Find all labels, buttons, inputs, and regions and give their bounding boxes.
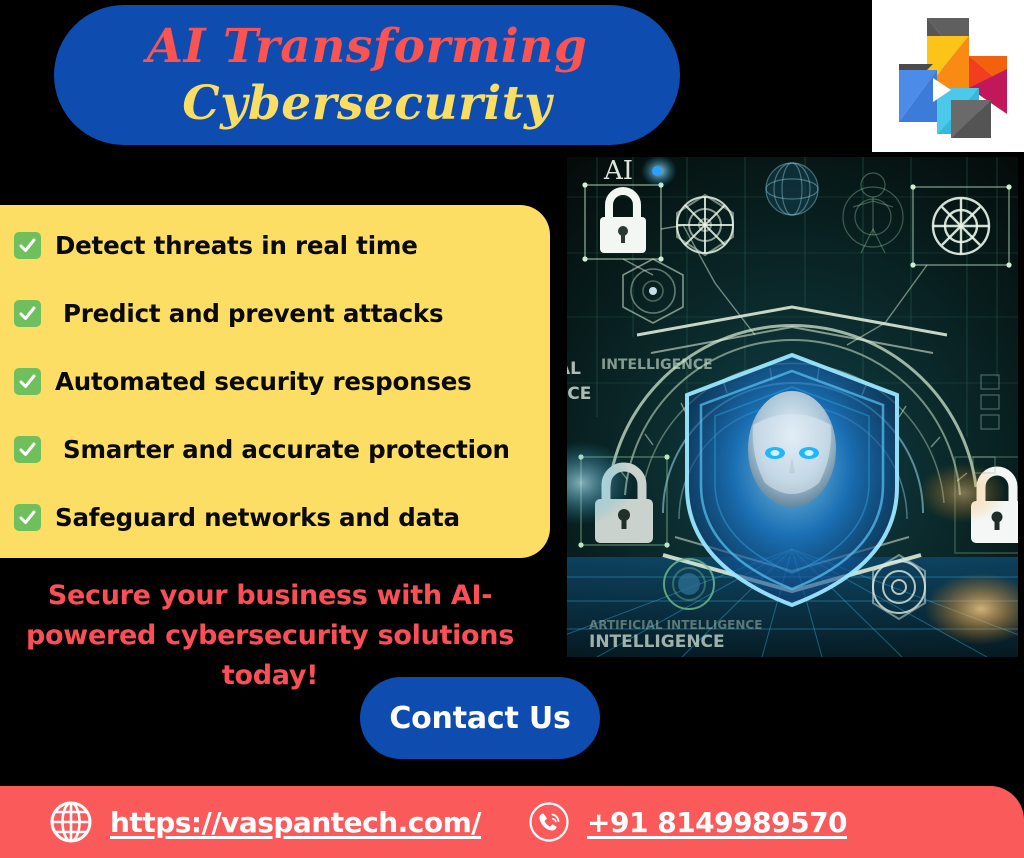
feature-item-0: Detect threats in real time xyxy=(14,231,550,260)
page-title-line-1: AI Transforming xyxy=(147,18,588,75)
check-icon xyxy=(14,436,41,463)
hero-label-ai: AI xyxy=(603,157,633,186)
website-link[interactable]: https://vaspantech.com/ xyxy=(110,806,481,839)
feature-label-0: Detect threats in real time xyxy=(55,231,418,260)
feature-item-1: Predict and prevent attacks xyxy=(14,299,550,328)
check-icon xyxy=(14,300,41,327)
feature-item-2: Automated security responses xyxy=(14,367,550,396)
check-icon xyxy=(14,368,41,395)
hero-label-artificial: ARTIFICIAL INTELLIGENCE xyxy=(589,618,762,632)
contact-us-button[interactable]: Contact Us xyxy=(360,677,600,759)
logo-icon xyxy=(889,14,1007,138)
phone-icon xyxy=(527,800,571,844)
hero-label-al: AL xyxy=(567,359,581,379)
hero-image: AI xyxy=(567,157,1018,657)
feature-label-3: Smarter and accurate protection xyxy=(55,435,510,464)
hero-label-nce: NCE xyxy=(567,384,591,404)
footer-phone[interactable]: +91 8149989570 xyxy=(527,800,847,844)
footer-bar: https://vaspantech.com/ +91 8149989570 xyxy=(0,786,1024,858)
feature-label-2: Automated security responses xyxy=(55,367,472,396)
page-title-line-2: Cybersecurity xyxy=(182,75,552,132)
brand-logo[interactable] xyxy=(872,0,1024,152)
phone-number[interactable]: +91 8149989570 xyxy=(587,806,847,839)
feature-label-4: Safeguard networks and data xyxy=(55,503,460,532)
poster-root: AI Transforming Cybersecurity xyxy=(0,0,1024,858)
hero-label-intelligence-top: INTELLIGENCE xyxy=(601,357,713,373)
check-icon xyxy=(14,232,41,259)
features-card: Detect threats in real time Predict and … xyxy=(0,205,550,558)
feature-item-4: Safeguard networks and data xyxy=(14,503,550,532)
footer-website[interactable]: https://vaspantech.com/ xyxy=(48,799,481,845)
title-banner: AI Transforming Cybersecurity xyxy=(54,5,680,145)
hero-label-intelligence: INTELLIGENCE xyxy=(589,632,725,652)
ai-cybersecurity-illustration: AI xyxy=(567,157,1018,657)
globe-icon xyxy=(48,799,94,845)
feature-item-3: Smarter and accurate protection xyxy=(14,435,550,464)
check-icon xyxy=(14,504,41,531)
feature-label-1: Predict and prevent attacks xyxy=(55,299,443,328)
